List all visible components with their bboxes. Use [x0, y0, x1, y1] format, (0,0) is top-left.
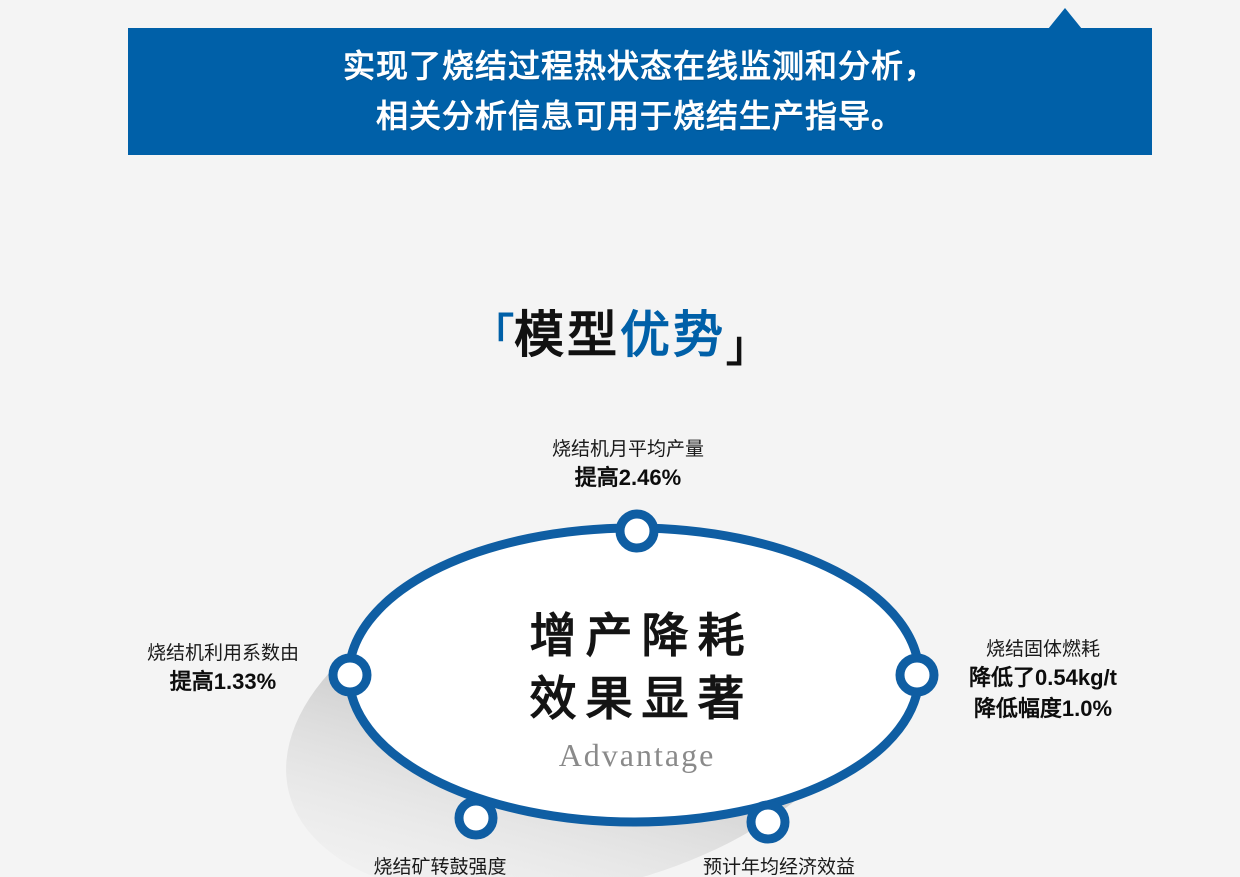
banner-arrow-icon — [1048, 8, 1082, 29]
node-label-left: 烧结机利用系数由 提高1.33% — [73, 641, 373, 698]
node-label-right-title: 烧结固体燃耗 — [893, 637, 1193, 663]
node-label-top-value: 提高2.46% — [478, 463, 778, 493]
node-label-top-title: 烧结机月平均产量 — [478, 437, 778, 463]
node-marker-bottom-left — [459, 801, 493, 835]
bracket-close-icon: 」 — [726, 323, 768, 370]
banner-line-1: 实现了烧结过程热状态在线监测和分析， — [343, 42, 937, 92]
node-marker-bottom-right — [751, 805, 785, 839]
section-heading: 「模型优势」 — [0, 310, 1240, 360]
node-label-bottom-left-title: 烧结矿转鼓强度 — [290, 855, 590, 877]
node-label-right-value: 降低了0.54kg/t — [893, 663, 1193, 693]
section-heading-dark: 模型 — [514, 307, 620, 363]
node-label-right-value-2: 降低幅度1.0% — [893, 694, 1193, 724]
node-label-left-value: 提高1.33% — [73, 667, 373, 697]
banner-body: 实现了烧结过程热状态在线监测和分析， 相关分析信息可用于烧结生产指导。 — [128, 28, 1152, 155]
node-label-bottom-right: 预计年均经济效益 — [629, 855, 929, 877]
center-line-1: 增产降耗 — [437, 604, 837, 667]
headline-banner: 实现了烧结过程热状态在线监测和分析， 相关分析信息可用于烧结生产指导。 — [128, 8, 1152, 155]
node-label-bottom-right-title: 预计年均经济效益 — [629, 855, 929, 877]
section-heading-accent: 优势 — [620, 307, 726, 363]
slide-canvas: 实现了烧结过程热状态在线监测和分析， 相关分析信息可用于烧结生产指导。 「模型优… — [0, 0, 1240, 877]
center-line-2: 效果显著 — [437, 667, 837, 730]
center-text-block: 增产降耗 效果显著 Advantage — [437, 604, 837, 771]
node-label-left-title: 烧结机利用系数由 — [73, 641, 373, 667]
node-label-top: 烧结机月平均产量 提高2.46% — [478, 437, 778, 494]
banner-line-2: 相关分析信息可用于烧结生产指导。 — [376, 92, 904, 142]
center-subtitle: Advantage — [437, 739, 837, 771]
node-label-bottom-left: 烧结矿转鼓强度 — [290, 855, 590, 877]
bracket-open-icon: 「 — [472, 311, 514, 358]
node-marker-top — [620, 514, 654, 548]
node-label-right: 烧结固体燃耗 降低了0.54kg/t 降低幅度1.0% — [893, 637, 1193, 724]
